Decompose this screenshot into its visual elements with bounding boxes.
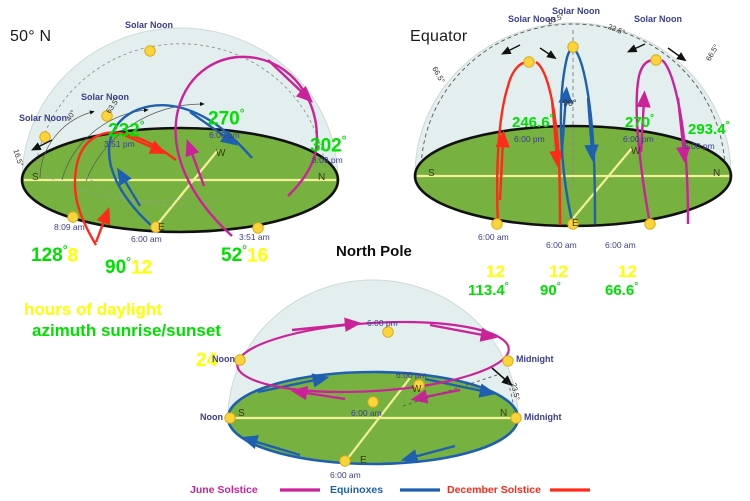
- six-pm-june-label-np: 6:00 pm: [367, 318, 398, 328]
- time-sunrise-eq-equator: 6:00 am: [546, 240, 577, 250]
- degree-sign: °: [505, 281, 509, 292]
- six-pm-equinox-label-np: 6:00 pm: [396, 370, 427, 380]
- solar-noon-label-dec-equator: Solar Noon: [508, 14, 552, 24]
- azimuth-sunset-dec-equator: 246.6°: [512, 113, 554, 131]
- cardinal-w-50n: W: [216, 148, 225, 159]
- cardinal-e-equator: E: [572, 218, 579, 229]
- panel-title-50n: 50° N: [10, 28, 51, 46]
- noon-lower-label-np: Noon: [200, 412, 223, 422]
- azimuth-sunset-eq-value-50n: 270: [208, 108, 240, 129]
- time-sunrise-jun-50n: 3:51 am: [239, 232, 270, 242]
- degree-sign: °: [240, 106, 245, 120]
- cardinal-e-np: E: [360, 455, 367, 466]
- midnight-upper-label-np: Midnight: [516, 354, 554, 364]
- azimuth-sunrise-jun-50n: 52°: [221, 245, 247, 266]
- panel-title-equator: Equator: [410, 28, 467, 46]
- sun-midnight-upper-np: [503, 356, 513, 366]
- daylight-hours-eq-equator: 12: [549, 262, 568, 282]
- time-sunset-dec-50n: 3:51 pm: [104, 139, 135, 149]
- cardinal-s-50n: S: [32, 172, 39, 183]
- azimuth-sunrise-jun-equator: 66.6°: [605, 281, 638, 299]
- sun-midnight-lower-np: [511, 413, 521, 423]
- cardinal-n-np: N: [500, 408, 507, 419]
- degree-sign: °: [726, 120, 730, 131]
- sunrise-stat-jun-50n: 52°16: [221, 243, 268, 267]
- legend-label-equinoxes: Equinoxes: [330, 484, 383, 496]
- degree-sign: °: [342, 133, 347, 147]
- sun-solar-noon-eq-equator: [568, 42, 578, 52]
- daylight-hours-jun-50n: 16: [247, 245, 268, 266]
- midnight-lower-label-np: Midnight: [524, 412, 562, 422]
- solar-noon-label-jun-50n: Solar Noon: [125, 20, 169, 30]
- degree-sign: °: [550, 113, 554, 124]
- azimuth-sunset-jun-50n: 302°: [310, 133, 347, 157]
- cardinal-n-50n: N: [318, 172, 325, 183]
- sunrise-stat-dec-50n: 128°8: [31, 243, 78, 267]
- sun-solar-noon-dec-equator: [524, 57, 534, 67]
- daylight-hours-dec-equator: 12: [486, 262, 505, 282]
- legend-label-june-solstice: June Solstice: [190, 484, 258, 496]
- azimuth-sunset-eq-equator: 270°: [625, 113, 654, 131]
- key-hours-of-daylight: hours of daylight: [24, 300, 162, 320]
- time-sunset-jun-equator: 6:00 pm: [684, 141, 715, 151]
- sunrise-stat-eq-50n: 90°12: [105, 255, 152, 279]
- panel-title-north-pole: North Pole: [336, 243, 412, 260]
- azimuth-sunrise-eq-equator: 90°: [540, 281, 561, 299]
- key-azimuth-sunrise-sunset: azimuth sunrise/sunset: [32, 321, 221, 341]
- azimuth-sunrise-dec-50n: 128°: [31, 245, 68, 266]
- sun-solar-noon-jun-50n: [145, 46, 155, 56]
- noon-upper-label-np: Noon: [212, 354, 235, 364]
- sun-sunrise-dec-equator: [492, 219, 502, 229]
- sun-6am-june-np: [368, 397, 378, 407]
- daylight-hours-jun-equator: 12: [618, 262, 637, 282]
- time-sunrise-dec-equator: 6:00 am: [478, 232, 509, 242]
- time-sunrise-dec-50n: 8:09 am: [54, 222, 85, 232]
- time-sunset-eq-equator: 6:00 pm: [623, 134, 654, 144]
- cardinal-s-equator: S: [428, 168, 435, 179]
- sun-solar-noon-jun-equator: [651, 55, 661, 65]
- sun-solar-noon-dec-50n: [40, 132, 50, 142]
- sun-sunrise-jun-equator: [645, 219, 655, 229]
- solar-noon-label-jun-equator: Solar Noon: [634, 14, 678, 24]
- time-sunset-jun-50n: 8:09 pm: [312, 155, 343, 165]
- sun-sunrise-dec-50n: [68, 212, 78, 222]
- panel-equator-art: [415, 23, 731, 229]
- azimuth-sunrise-eq-50n: 90°: [105, 257, 131, 278]
- cardinal-w-equator: W: [631, 146, 640, 157]
- azimuth-sunset-jun-value-50n: 302: [310, 135, 342, 156]
- time-sunset-eq-50n: 6:00 pm: [209, 130, 240, 140]
- azimuth-sunrise-dec-equator: 113.4°: [468, 281, 509, 299]
- sun-noon-upper-np: [235, 355, 245, 365]
- time-sunrise-jun-equator: 6:00 am: [605, 240, 636, 250]
- azimuth-sunset-jun-equator: 293.4°: [688, 120, 730, 138]
- daylight-hours-eq-50n: 12: [131, 257, 152, 278]
- solar-noon-label-dec-50n: Solar Noon: [19, 113, 63, 123]
- solar-path-diagram: 50° N Solar Noon Solar Noon Solar Noon 1…: [0, 0, 750, 501]
- sun-noon-lower-np: [225, 413, 235, 423]
- cardinal-e-50n: E: [158, 222, 165, 233]
- altitude-label-90-equator: 90°: [563, 98, 577, 108]
- sun-6am-equinox-np: [340, 456, 350, 466]
- time-sunset-dec-equator: 6:00 pm: [514, 134, 545, 144]
- cardinal-s-np: S: [238, 408, 245, 419]
- degree-sign: °: [650, 113, 654, 124]
- panel-50n-art: [22, 28, 338, 245]
- panel-north-pole-art: [225, 280, 521, 466]
- six-am-june-label-np: 6:00 am: [351, 408, 382, 418]
- degree-sign: °: [140, 118, 145, 132]
- cardinal-w-np: W: [412, 384, 421, 395]
- cardinal-n-equator: N: [713, 168, 720, 179]
- sun-6pm-june-np: [383, 327, 393, 337]
- degree-sign: °: [634, 281, 638, 292]
- six-am-equinox-label-np: 6:00 am: [330, 470, 361, 480]
- legend-label-december-solstice: December Solstice: [447, 484, 541, 496]
- time-sunrise-eq-50n: 6:00 am: [131, 234, 162, 244]
- daylight-hours-dec-50n: 8: [68, 245, 79, 266]
- degree-sign: °: [557, 281, 561, 292]
- azimuth-sunset-eq-50n: 270°: [208, 106, 245, 130]
